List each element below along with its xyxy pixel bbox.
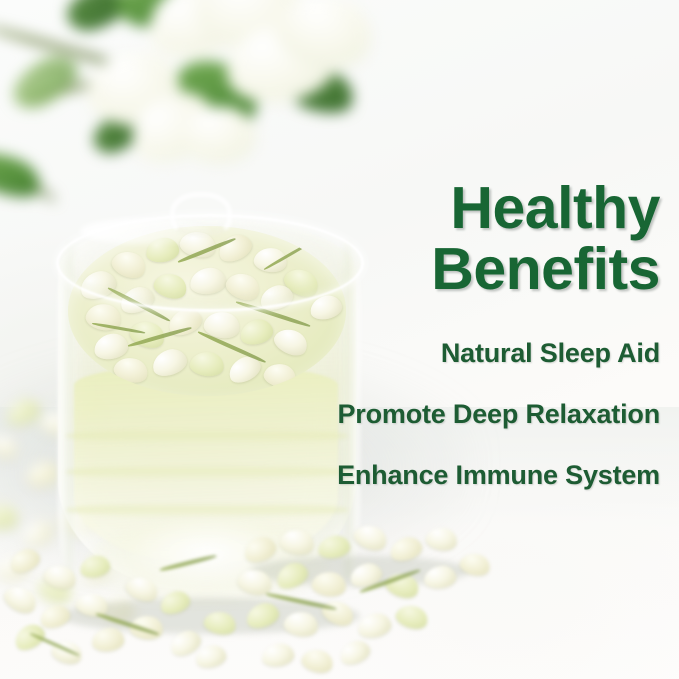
jasmine-bud <box>300 646 336 676</box>
jasmine-bud <box>188 350 225 378</box>
jasmine-leaf <box>0 144 46 206</box>
jasmine-sprig <box>160 554 217 572</box>
jasmine-bud <box>337 637 373 668</box>
jasmine-bud <box>3 395 43 429</box>
cup-handle-loop <box>170 192 232 236</box>
jasmine-bud <box>38 602 73 630</box>
jasmine-bud <box>278 527 316 558</box>
benefit-item-2: Promote Deep Relaxation <box>260 401 660 428</box>
jasmine-bud <box>78 554 111 580</box>
jasmine-bud <box>351 521 390 555</box>
benefit-item-3: Enhance Immune System <box>260 462 660 489</box>
headline-line-1: Healthy <box>260 178 660 239</box>
cup-glass-ridge <box>66 502 348 518</box>
text-overlay: Healthy Benefits Natural Sleep Aid Promo… <box>260 178 660 489</box>
product-banner: Healthy Benefits Natural Sleep Aid Promo… <box>0 0 679 679</box>
jasmine-bud <box>393 602 430 633</box>
jasmine-bud <box>356 611 393 640</box>
jasmine-bud <box>424 525 458 552</box>
jasmine-bud <box>194 643 228 670</box>
jasmine-bud <box>7 545 43 576</box>
jasmine-bud <box>0 581 40 617</box>
scattered-buds-foreground <box>0 520 520 679</box>
jasmine-bud <box>92 331 130 362</box>
jasmine-bud <box>149 345 190 380</box>
benefits-list: Natural Sleep Aid Promote Deep Relaxatio… <box>260 340 660 489</box>
headline-line-2: Benefits <box>260 239 660 300</box>
jasmine-bud <box>261 642 296 668</box>
jasmine-bud <box>0 430 21 462</box>
jasmine-bud <box>42 562 79 592</box>
benefit-item-1: Natural Sleep Aid <box>260 340 660 367</box>
jasmine-leaf <box>5 47 86 117</box>
